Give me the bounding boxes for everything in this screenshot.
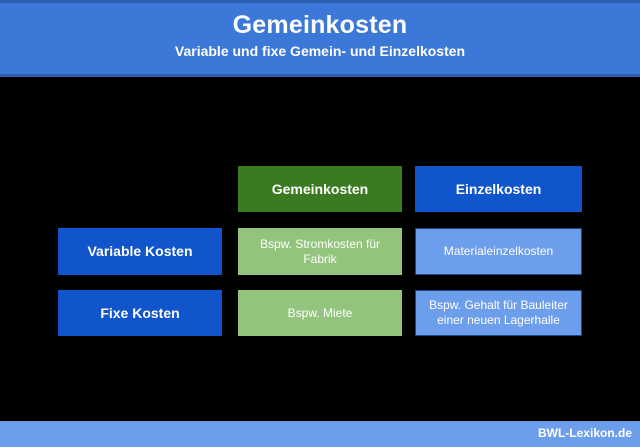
infographic-page: Gemeinkosten Variable und fixe Gemein- u… (0, 0, 640, 447)
column-header-gemeinkosten: Gemeinkosten (238, 166, 402, 212)
page-title: Gemeinkosten (0, 10, 640, 40)
cell-fixe-einzelkosten: Bspw. Gehalt für Bauleiter einer neuen L… (415, 290, 582, 336)
page-subtitle: Variable und fixe Gemein- und Einzelkost… (0, 42, 640, 60)
column-header-einzelkosten: Einzelkosten (415, 166, 582, 212)
cell-variable-einzelkosten: Materialeinzelkosten (415, 228, 582, 275)
footer-bar: BWL-Lexikon.de (0, 421, 640, 447)
row-label-fixe-kosten: Fixe Kosten (58, 290, 222, 336)
cell-variable-gemeinkosten: Bspw. Stromkosten für Fabrik (238, 228, 402, 275)
watermark-label: BWL-Lexikon.de (538, 426, 632, 440)
row-label-variable-kosten: Variable Kosten (58, 228, 222, 275)
cell-fixe-gemeinkosten: Bspw. Miete (238, 290, 402, 336)
header-banner: Gemeinkosten Variable und fixe Gemein- u… (0, 0, 640, 77)
